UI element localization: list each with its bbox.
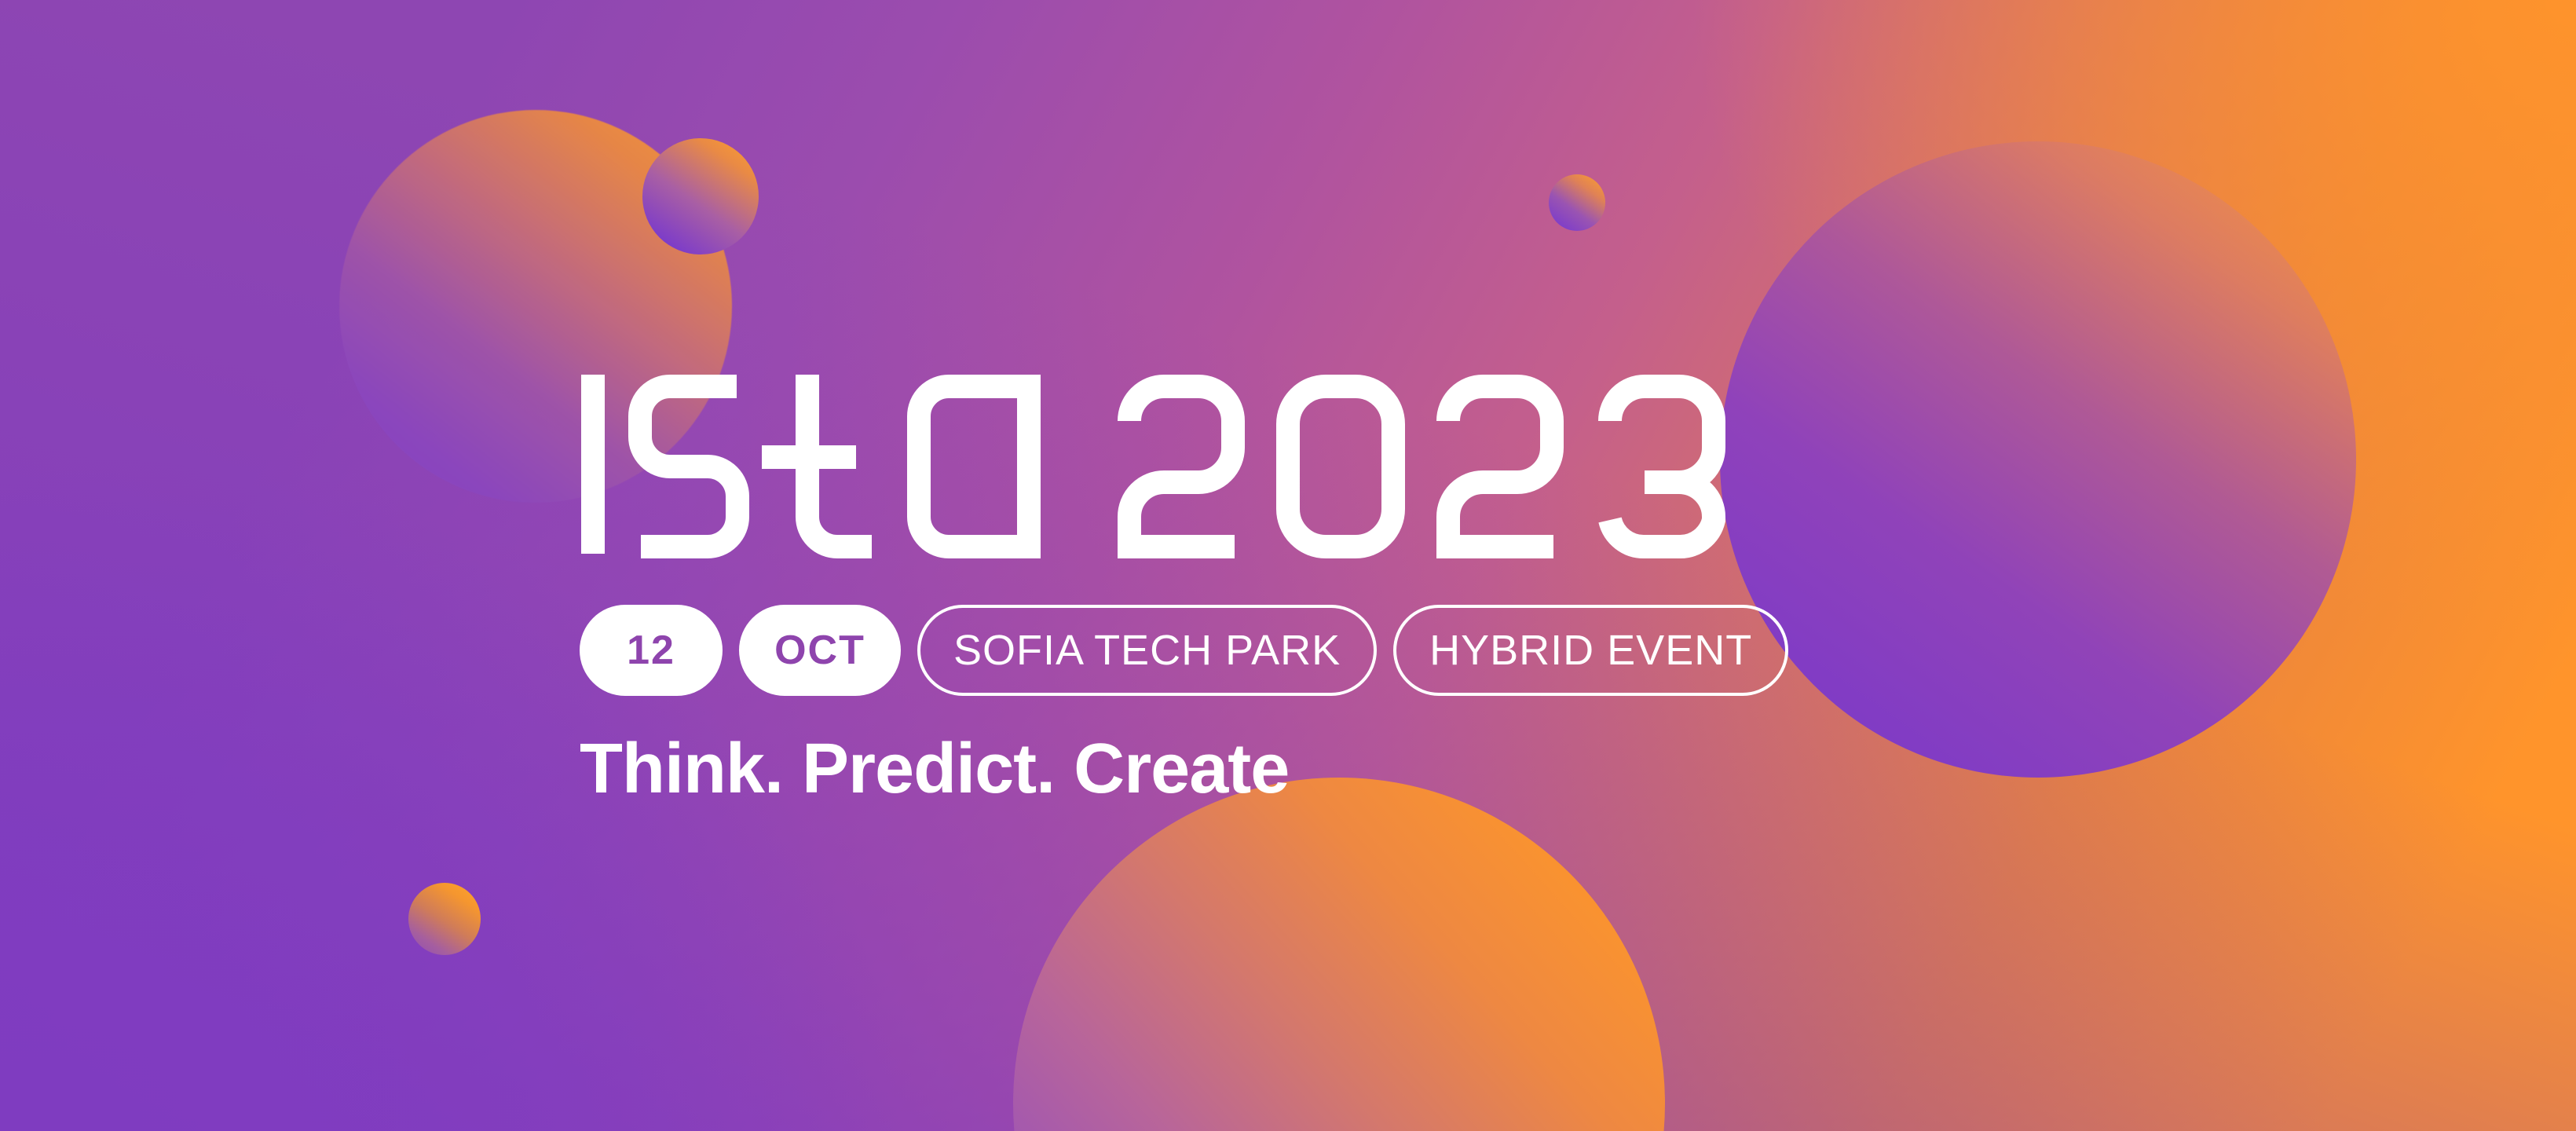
logo-wordmark-svg [580, 369, 1907, 565]
decorative-sphere-small-top-left [642, 138, 759, 254]
decorative-sphere-tiny-top-right [1549, 174, 1605, 231]
banner-content: 12 OCT SOFIA TECH PARK HYBRID EVENT Thin… [580, 369, 2072, 807]
event-logo [580, 369, 2072, 589]
pill-event-format[interactable]: HYBRID EVENT [1393, 605, 1788, 696]
decorative-sphere-tiny-bottom-left [408, 883, 481, 955]
event-details-pills: 12 OCT SOFIA TECH PARK HYBRID EVENT [580, 605, 2072, 696]
pill-day[interactable]: 12 [580, 605, 723, 696]
pill-venue[interactable]: SOFIA TECH PARK [917, 605, 1377, 696]
event-tagline: Think. Predict. Create [580, 732, 2072, 807]
event-banner: 12 OCT SOFIA TECH PARK HYBRID EVENT Thin… [0, 0, 2576, 1131]
pill-month[interactable]: OCT [739, 605, 901, 696]
